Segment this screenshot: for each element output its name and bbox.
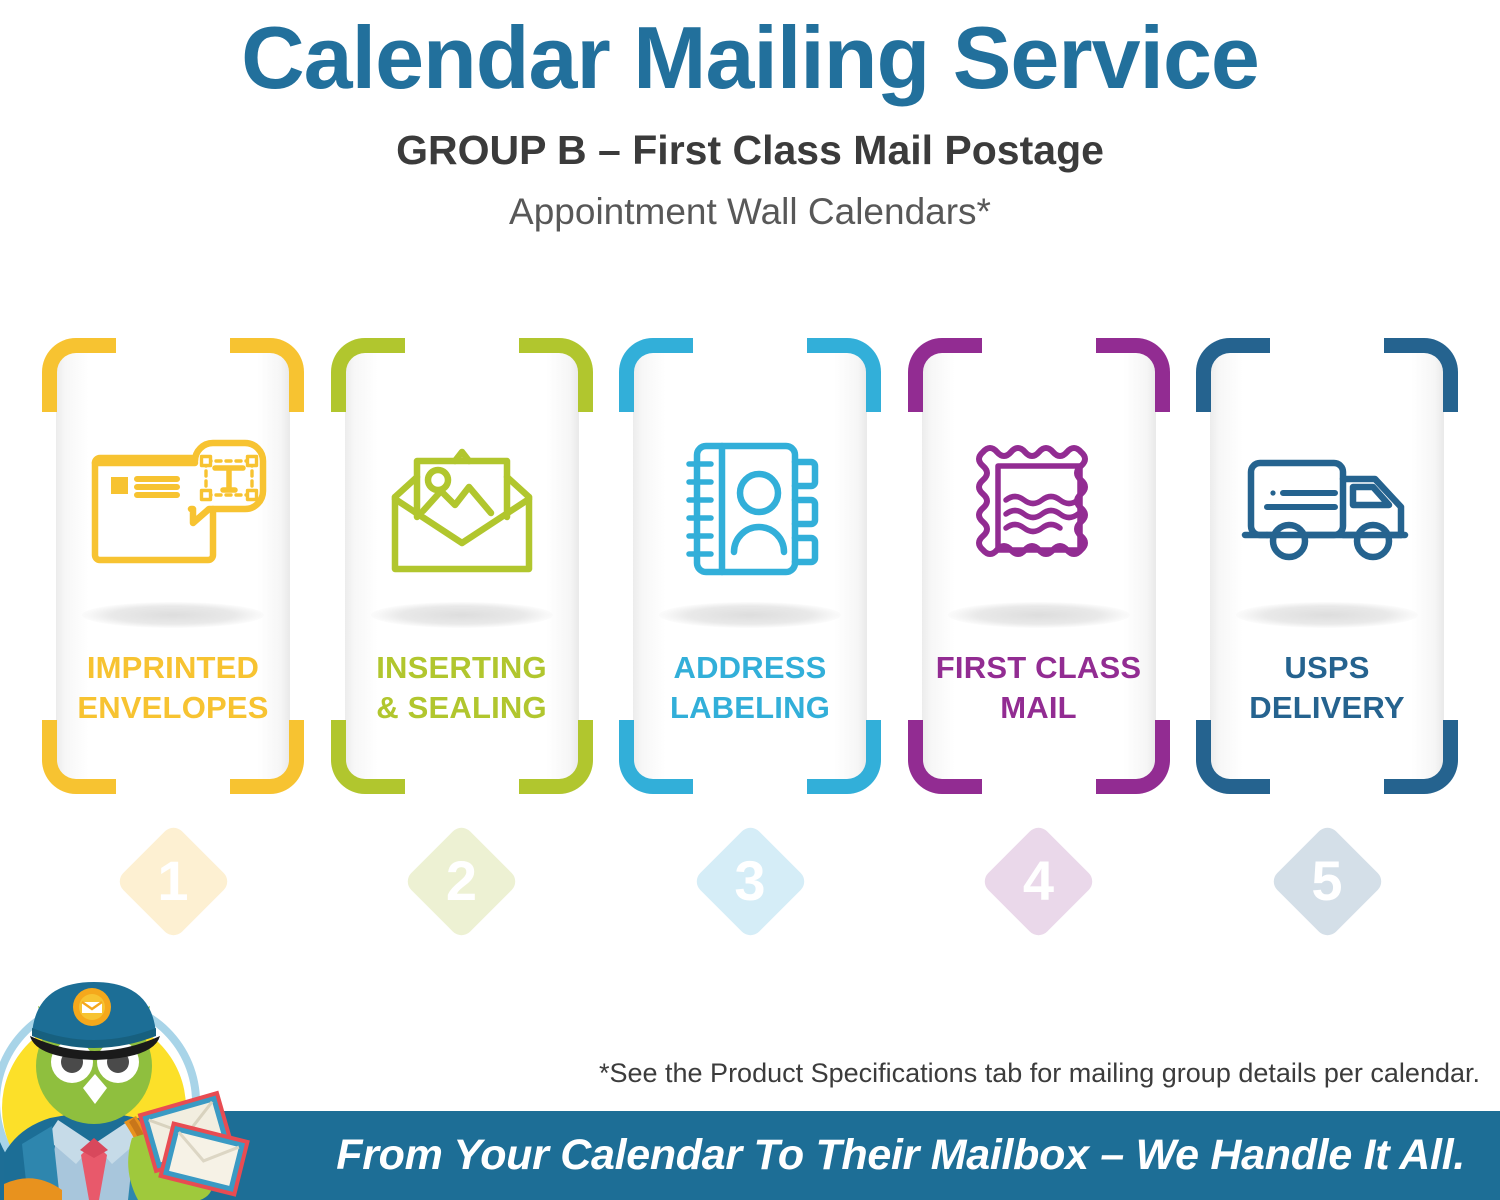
step-card-inserting-sealing[interactable]: INSERTING & SEALING [331, 338, 593, 794]
step-card-imprinted-envelopes[interactable]: IMPRINTED ENVELOPES [42, 338, 304, 794]
step-number-3: 3 [619, 822, 881, 940]
imprinted-envelope-with-text-bubble-icon [42, 424, 304, 594]
card-label-line2: ENVELOPES [77, 690, 268, 725]
step-number-row: 1 2 3 4 5 [42, 822, 1458, 940]
corner-bracket-top-right [807, 338, 881, 412]
page-subtitle: GROUP B – First Class Mail Postage [0, 102, 1500, 171]
icon-drop-shadow [82, 602, 264, 628]
card-label-line1: USPS [1284, 650, 1369, 685]
diamond-number-label: 3 [619, 822, 881, 940]
step-number-1: 1 [42, 822, 304, 940]
page-sub-subtitle: Appointment Wall Calendars* [0, 171, 1500, 230]
postage-stamp-icon [908, 424, 1170, 594]
card-label-line1: ADDRESS [674, 650, 827, 685]
corner-bracket-top-right [1096, 338, 1170, 412]
diamond-number-label: 4 [908, 822, 1170, 940]
owl-mail-carrier-mascot [0, 962, 296, 1200]
card-label: IMPRINTED ENVELOPES [58, 648, 288, 727]
card-label-line1: FIRST CLASS [936, 650, 1141, 685]
card-label-line2: LABELING [670, 690, 830, 725]
corner-bracket-bottom-right [1096, 720, 1170, 794]
corner-bracket-top-left [42, 338, 116, 412]
corner-bracket-bottom-right [519, 720, 593, 794]
page-title: Calendar Mailing Service [0, 0, 1500, 102]
diamond-number-label: 2 [331, 822, 593, 940]
diamond-number-label: 1 [42, 822, 304, 940]
step-card-usps-delivery[interactable]: USPS DELIVERY [1196, 338, 1458, 794]
card-label: ADDRESS LABELING [635, 648, 865, 727]
icon-drop-shadow [659, 602, 841, 628]
icon-drop-shadow [371, 602, 553, 628]
corner-bracket-bottom-right [1384, 720, 1458, 794]
diamond-number-label: 5 [1196, 822, 1458, 940]
step-number-4: 4 [908, 822, 1170, 940]
step-card-address-labeling[interactable]: ADDRESS LABELING [619, 338, 881, 794]
corner-bracket-bottom-left [619, 720, 693, 794]
header: Calendar Mailing Service GROUP B – First… [0, 0, 1500, 230]
corner-bracket-bottom-right [230, 720, 304, 794]
corner-bracket-bottom-left [42, 720, 116, 794]
card-label: INSERTING & SEALING [347, 648, 577, 727]
corner-bracket-top-right [519, 338, 593, 412]
corner-bracket-bottom-right [807, 720, 881, 794]
card-label-line1: IMPRINTED [87, 650, 259, 685]
card-label-line2: DELIVERY [1249, 690, 1404, 725]
card-label-line2: MAIL [1000, 690, 1077, 725]
icon-drop-shadow [948, 602, 1130, 628]
corner-bracket-bottom-left [1196, 720, 1270, 794]
step-number-2: 2 [331, 822, 593, 940]
step-number-5: 5 [1196, 822, 1458, 940]
corner-bracket-top-left [331, 338, 405, 412]
corner-bracket-top-left [908, 338, 982, 412]
icon-drop-shadow [1236, 602, 1418, 628]
corner-bracket-top-right [1384, 338, 1458, 412]
address-book-icon [619, 424, 881, 594]
card-label-line1: INSERTING [376, 650, 547, 685]
steps-card-row: IMPRINTED ENVELOPES [42, 338, 1458, 794]
delivery-truck-icon [1196, 424, 1458, 594]
card-label: USPS DELIVERY [1212, 648, 1442, 727]
infographic-root: Calendar Mailing Service GROUP B – First… [0, 0, 1500, 1200]
open-envelope-with-photo-icon [331, 424, 593, 594]
corner-bracket-bottom-left [331, 720, 405, 794]
step-card-first-class-mail[interactable]: FIRST CLASS MAIL [908, 338, 1170, 794]
card-label: FIRST CLASS MAIL [924, 648, 1154, 727]
corner-bracket-top-left [1196, 338, 1270, 412]
corner-bracket-bottom-left [908, 720, 982, 794]
card-label-line2: & SEALING [376, 690, 547, 725]
corner-bracket-top-right [230, 338, 304, 412]
corner-bracket-top-left [619, 338, 693, 412]
